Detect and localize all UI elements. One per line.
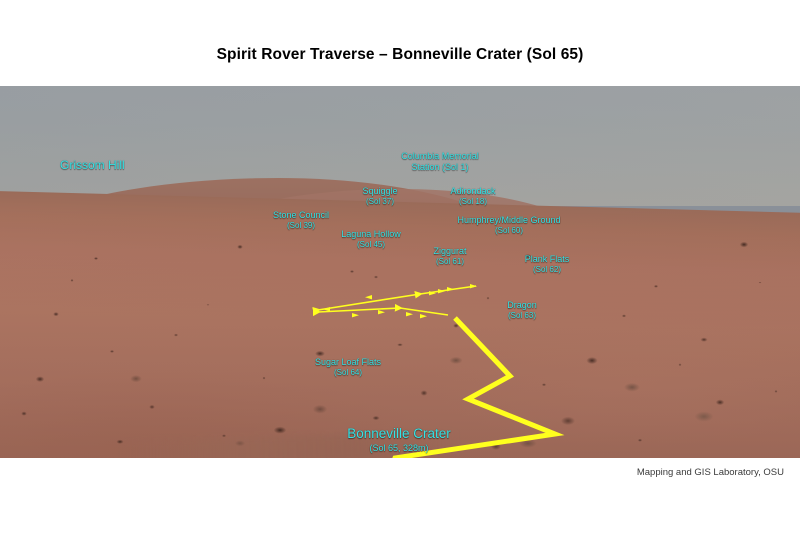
credit-text: Mapping and GIS Laboratory, OSU	[637, 467, 784, 478]
map-label-dragon[interactable]: Dragon (Sol 63)	[507, 300, 537, 321]
label-text: Stone Council	[273, 210, 329, 220]
label-sol: (Sol 18)	[450, 197, 495, 207]
label-sol: (Sol 60)	[457, 226, 560, 236]
map-label-squiggle[interactable]: Squiggle (Sol 37)	[362, 186, 397, 207]
label-text: Bonneville Crater	[347, 426, 451, 441]
label-sol: (Sol 39)	[273, 221, 329, 231]
map-label-adirondack[interactable]: Adirondack (Sol 18)	[450, 186, 495, 207]
label-text: Squiggle	[362, 186, 397, 196]
map-label-plank-flats[interactable]: Plank Flats (Sol 62)	[525, 254, 570, 275]
map-label-grissom-hill[interactable]: Grissom Hill	[60, 158, 125, 172]
label-text: Dragon	[507, 300, 537, 310]
map-label-stone-council[interactable]: Stone Council (Sol 39)	[273, 210, 329, 231]
map-label-laguna-hollow[interactable]: Laguna Hollow (Sol 45)	[341, 229, 401, 250]
label-text: Ziggurat	[433, 246, 466, 256]
label-text: Sugar Loaf Flats	[315, 357, 381, 367]
label-sol: (Sol 37)	[362, 197, 397, 207]
label-text: Laguna Hollow	[341, 229, 401, 239]
label-sol: (Sol 62)	[525, 265, 570, 275]
label-text: Adirondack	[450, 186, 495, 196]
traverse-branch-lower	[318, 308, 448, 315]
label-sub: Station (Sol 1)	[401, 162, 479, 173]
map-label-columbia-memorial-station[interactable]: Columbia Memorial Station (Sol 1)	[401, 151, 479, 173]
label-sol: (Sol 63)	[507, 311, 537, 321]
map-label-sugar-loaf-flats[interactable]: Sugar Loaf Flats (Sol 64)	[315, 357, 381, 378]
map-label-ziggurat[interactable]: Ziggurat (Sol 61)	[433, 246, 466, 267]
label-sol: (Sol 65, 328m)	[347, 442, 451, 454]
label-text: Plank Flats	[525, 254, 570, 264]
label-text: Humphrey/Middle Ground	[457, 215, 560, 225]
map-label-humphrey-middle-ground[interactable]: Humphrey/Middle Ground (Sol 60)	[457, 215, 560, 236]
page-title: Spirit Rover Traverse – Bonneville Crate…	[0, 46, 800, 64]
label-sol: (Sol 45)	[341, 240, 401, 250]
label-sol: (Sol 64)	[315, 368, 381, 378]
mars-panorama-image: Grissom Hill Columbia Memorial Station (…	[0, 86, 800, 458]
label-text: Grissom Hill	[60, 158, 125, 172]
map-label-bonneville-crater[interactable]: Bonneville Crater (Sol 65, 328m)	[347, 426, 451, 454]
rover-traverse-route	[0, 86, 800, 458]
label-sol: (Sol 61)	[433, 257, 466, 267]
label-text: Columbia Memorial	[401, 151, 479, 161]
